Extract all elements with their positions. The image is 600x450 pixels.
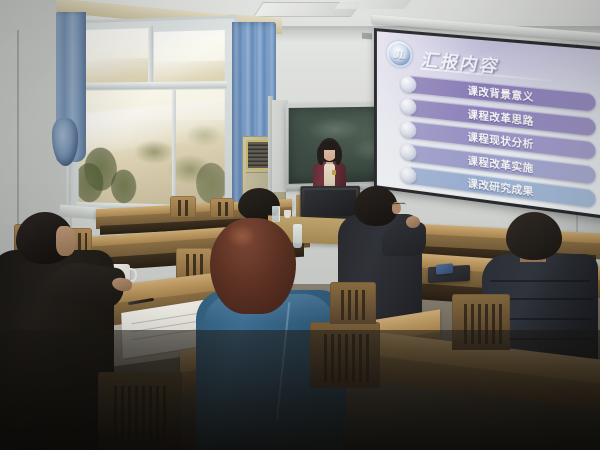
window-pane-top-right <box>154 30 225 84</box>
school-emblem-icon: JL <box>387 40 413 69</box>
slide-bar-label: 课程现状分析 <box>468 128 534 151</box>
head <box>506 212 562 260</box>
slide-bar-label: 课改背景意义 <box>468 82 534 104</box>
chair-slats <box>214 202 230 216</box>
tree <box>111 169 136 203</box>
window-pane-bottom <box>79 89 225 210</box>
presenter-badge <box>332 170 336 175</box>
arm <box>382 222 426 256</box>
presenter-hair-left <box>317 146 324 165</box>
chair-slats <box>337 290 369 320</box>
emblem-monogram: JL <box>394 46 405 62</box>
hair-highlight <box>226 224 256 248</box>
small-cup[interactable] <box>284 210 291 218</box>
window-sash-divider <box>172 90 176 207</box>
window-mullion-horizontal <box>77 81 227 90</box>
smartphone[interactable] <box>436 263 453 274</box>
slide-bar-label: 课改研究成果 <box>468 175 534 199</box>
jacket-seam <box>490 280 590 282</box>
ceiling-light-fixture-secondary <box>334 0 411 9</box>
window-pane-top-left <box>79 28 150 85</box>
slide-bar-label: 课程改革实施 <box>468 152 534 176</box>
presenter-shirt <box>324 163 335 187</box>
hand <box>406 216 420 228</box>
hill-view <box>79 56 150 84</box>
screen-mount-bracket <box>362 33 372 40</box>
shrub <box>134 140 174 164</box>
window-mullion-vertical <box>148 26 153 86</box>
chair-slats <box>174 200 192 216</box>
slide-bullet-list: 课改背景意义 课程改革思路 课程现状分析 <box>400 74 595 217</box>
slide-bar-label: 课程改革思路 <box>468 105 534 128</box>
foreground-shadow <box>0 330 600 450</box>
face <box>56 226 76 256</box>
shrub <box>186 124 223 147</box>
window-frame <box>71 15 237 222</box>
classroom-scene: JL 汇报内容 课改背景意义 课程改革思路 <box>0 0 600 450</box>
glasses <box>388 202 406 210</box>
